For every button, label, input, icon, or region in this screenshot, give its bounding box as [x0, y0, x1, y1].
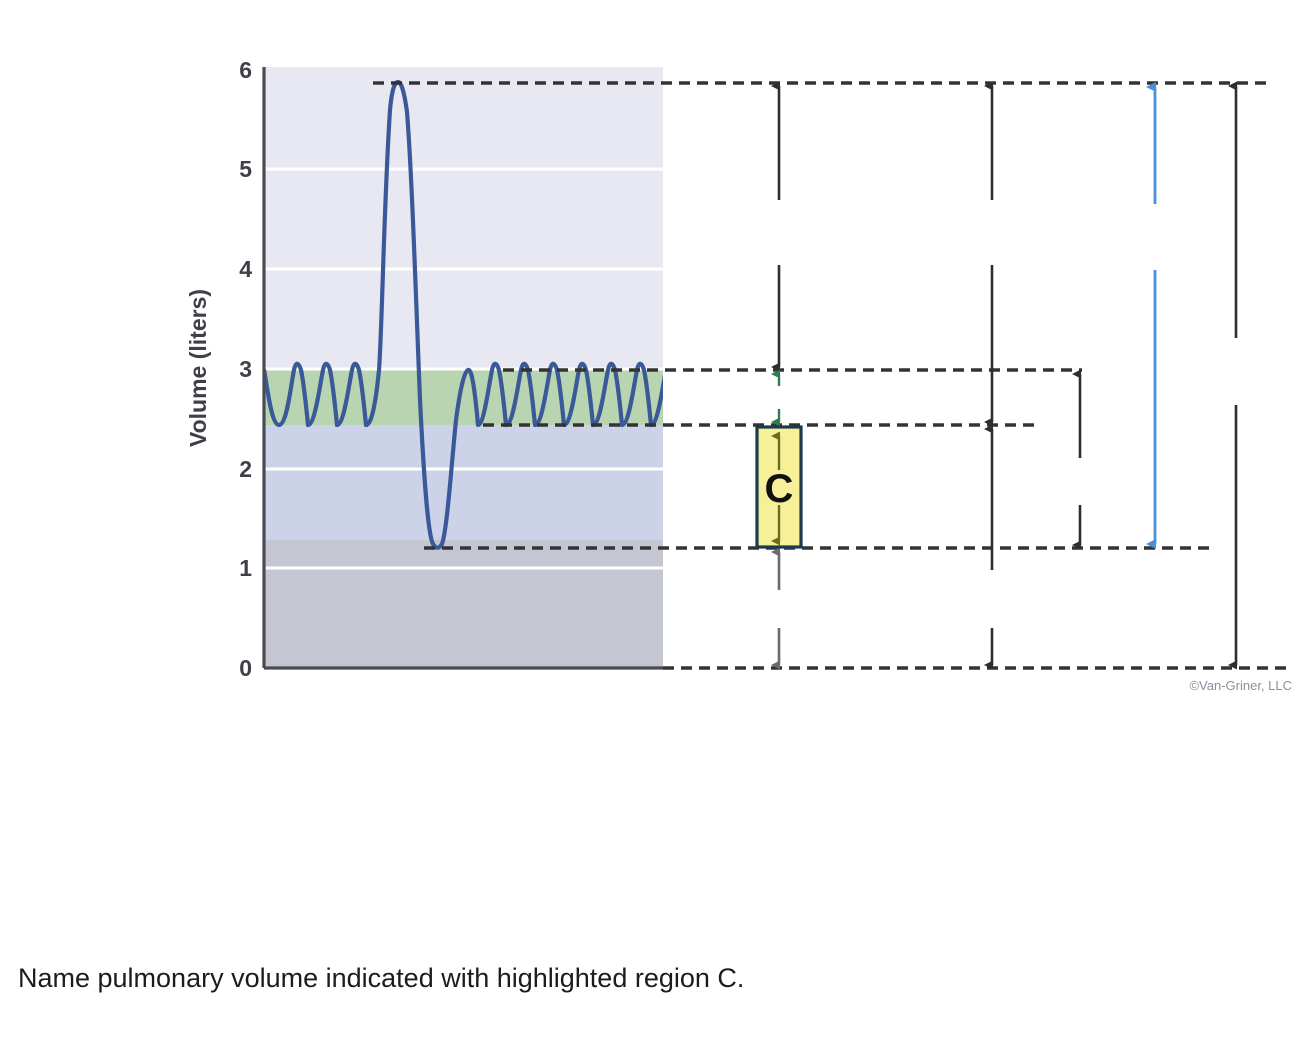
question-prompt: Name pulmonary volume indicated with hig…	[18, 960, 1294, 996]
copyright-credit: ©Van-Griner, LLC	[1189, 678, 1292, 693]
spirogram-figure: 6 5 4 3 2 1 0 Volume (liters) C	[0, 0, 1312, 720]
y-tick-label-2: 2	[239, 456, 252, 482]
residual-volume-band	[264, 540, 663, 668]
y-tick-label-0: 0	[239, 655, 252, 681]
highlighted-region-c[interactable]: C	[757, 427, 801, 547]
y-tick-label-3: 3	[239, 356, 252, 382]
y-tick-label-5: 5	[239, 156, 252, 182]
y-tick-label-4: 4	[239, 256, 252, 282]
y-tick-label-1: 1	[239, 555, 252, 581]
question-block: Name pulmonary volume indicated with hig…	[0, 960, 1312, 996]
spirogram-chart: 6 5 4 3 2 1 0 Volume (liters) C	[0, 0, 1312, 720]
y-axis-ticks: 6 5 4 3 2 1 0	[239, 57, 252, 681]
highlight-label-c: C	[765, 467, 794, 511]
expiratory-reserve-band	[264, 425, 663, 540]
y-axis-title: Volume (liters)	[185, 289, 211, 447]
y-tick-label-6: 6	[239, 57, 252, 83]
inspiratory-reserve-band	[264, 67, 663, 370]
